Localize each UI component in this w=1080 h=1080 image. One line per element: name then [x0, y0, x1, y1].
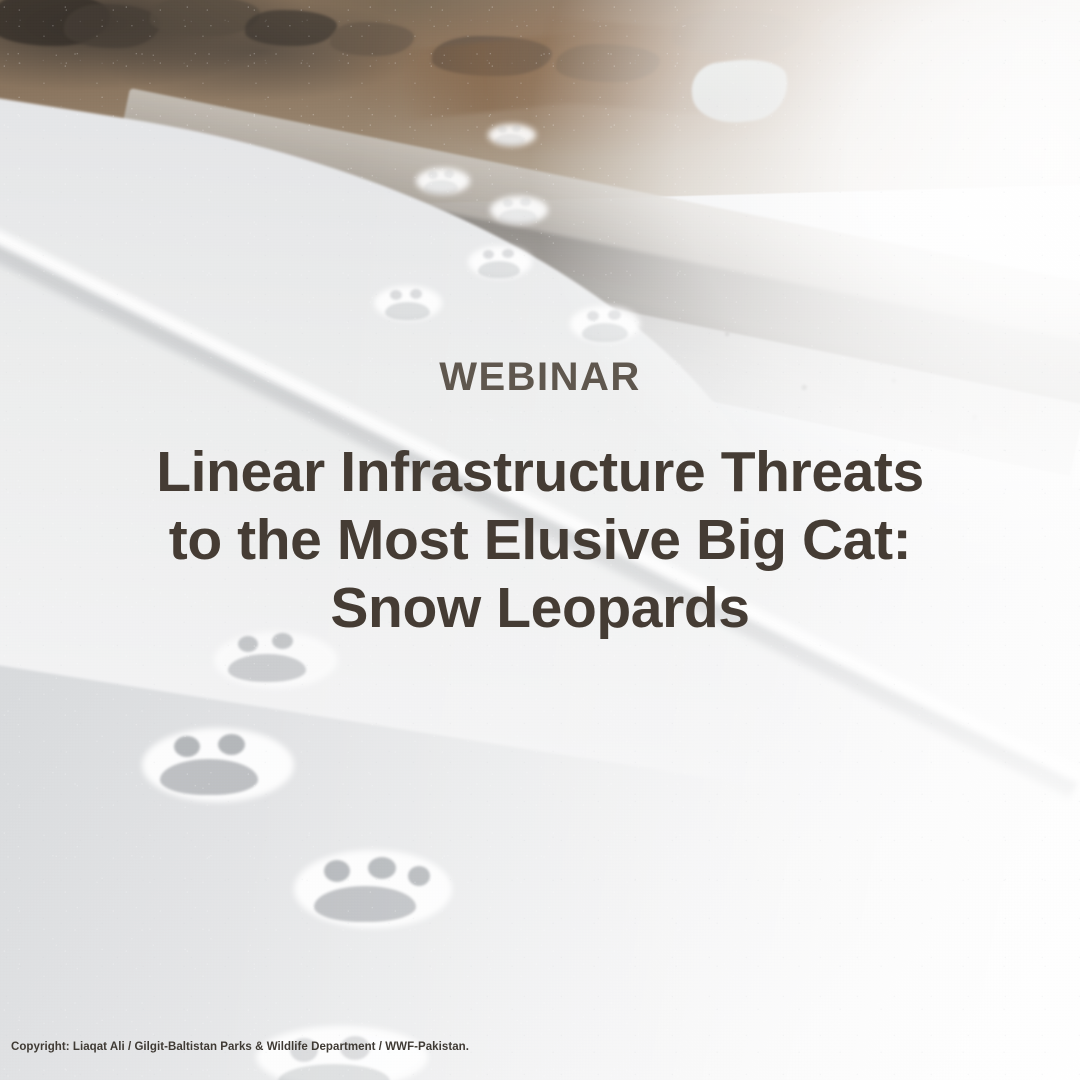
webinar-poster: WEBINAR Linear Infrastructure Threats to… [0, 0, 1080, 1080]
eyebrow-label: WEBINAR [0, 357, 1080, 397]
title-line-3: Snow Leopards [0, 574, 1080, 642]
title-line-1: Linear Infrastructure Threats [0, 438, 1080, 506]
title-line-2: to the Most Elusive Big Cat: [0, 506, 1080, 574]
photo-credit: Copyright: Liaqat Ali / Gilgit-Baltistan… [11, 1041, 469, 1053]
page-title: Linear Infrastructure Threats to the Mos… [0, 438, 1080, 642]
